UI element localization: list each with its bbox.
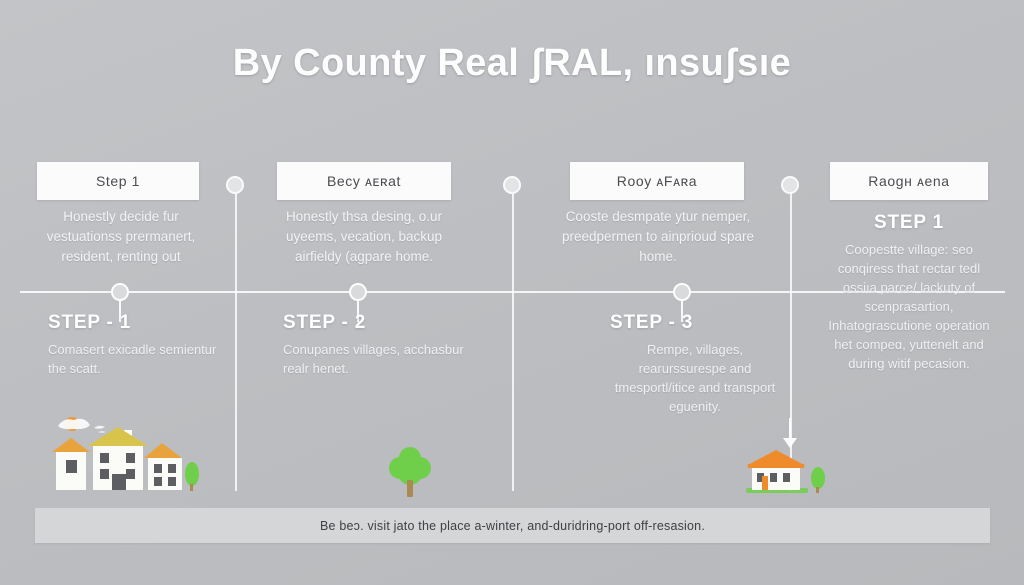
timeline-node-top-3[interactable] (781, 176, 799, 194)
step-block-1: STEP - 1 Comasert exicadle semientur the… (48, 312, 233, 378)
step-card-3[interactable]: Rooy ᴀFᴀʀa (570, 162, 744, 200)
step-heading-1: STEP - 1 (48, 312, 233, 334)
step-text-3: Rempe, villages, rearurssurespe and tmes… (610, 340, 780, 416)
step-card-label-3: Rooy ᴀFᴀʀa (617, 173, 697, 189)
step-card-label-2: Becy ᴀᴇʀat (327, 173, 401, 189)
step-card-2[interactable]: Becy ᴀᴇʀat (277, 162, 451, 200)
step-text-4: Coopestte village: seo conqiress that re… (828, 240, 990, 373)
sun-cloud-icon (58, 417, 106, 433)
step-card-body-3: Cooste desmpate ytur nemper, preedpermen… (560, 207, 756, 267)
step-card-4[interactable]: Raogн ᴀenа (830, 162, 988, 200)
house-left (52, 438, 90, 490)
infographic-canvas: By County Real ʃRAL, ınsuʃsıe Step 1 Hon… (0, 0, 1024, 585)
step-card-1[interactable]: Step 1 (37, 162, 199, 200)
timeline-node-mid-1[interactable] (111, 283, 129, 301)
timeline-node-mid-2[interactable] (349, 283, 367, 301)
timeline-node-top-1[interactable] (226, 176, 244, 194)
timeline-vertical-rail-2 (512, 186, 514, 491)
step-card-label-4: Raogн ᴀenа (868, 173, 949, 189)
houses-village-icon (40, 412, 215, 504)
step-block-3: STEP - 3 Rempe, villages, rearurssurespe… (610, 312, 780, 416)
step-block-4: STEP 1 Coopestte village: seo conqiress … (828, 212, 990, 373)
step-block-2: STEP - 2 Conupanes villages, acchasbur r… (283, 312, 483, 378)
step-heading-2: STEP - 2 (283, 312, 483, 334)
tree-icon (386, 440, 434, 502)
footer-note: Be beɔ. visit jato the place a-winter, a… (320, 519, 705, 533)
page-title: By County Real ʃRAL, ınsuʃsıe (0, 42, 1024, 85)
tree-icon-side (811, 467, 825, 493)
step-card-body-1: Honestly decide fur vestuationss prerman… (28, 207, 214, 267)
footer-bar: Be beɔ. visit jato the place a-winter, a… (35, 508, 990, 543)
timeline-node-mid-3[interactable] (673, 283, 691, 301)
house-right (144, 443, 182, 490)
step-card-body-2: Honestly thsa desing, o.ur uyeems, vecat… (266, 207, 462, 267)
timeline-node-top-2[interactable] (503, 176, 521, 194)
step-text-2: Conupanes villages, acchasbur realr hene… (283, 340, 483, 378)
step-text-1: Comasert exicadle semientur the scatt. (48, 340, 233, 378)
house-center (88, 427, 148, 490)
down-arrow-icon (783, 418, 797, 448)
timeline-vertical-rail-1 (235, 186, 237, 491)
single-house-icon (738, 418, 834, 504)
step-heading-4: STEP 1 (828, 212, 990, 234)
step-card-label-1: Step 1 (96, 173, 140, 189)
step-heading-3: STEP - 3 (610, 312, 780, 334)
tree-icon-small (185, 462, 199, 491)
